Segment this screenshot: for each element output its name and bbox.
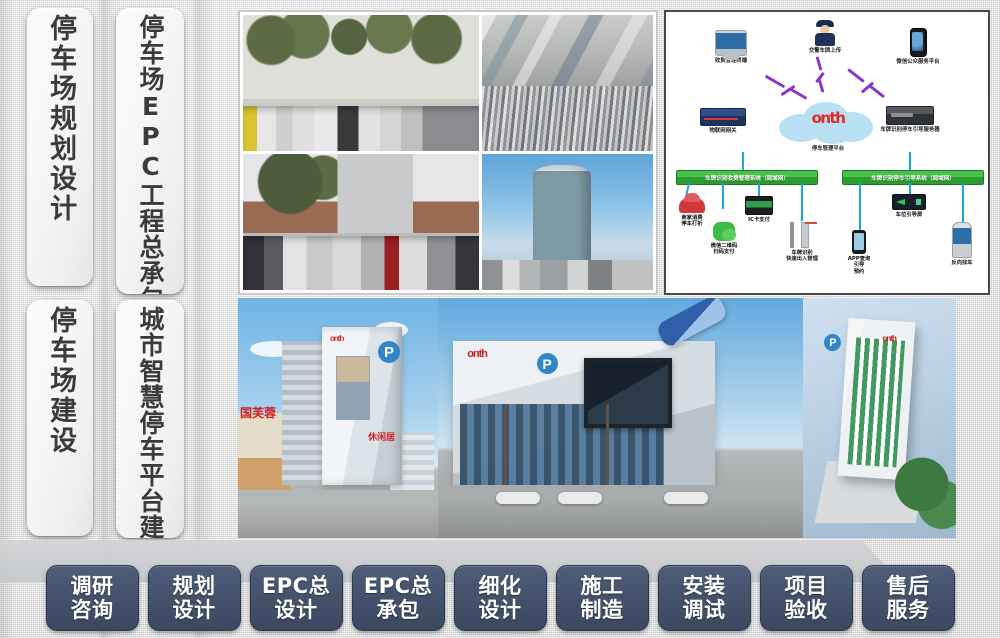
photo-brick-building-lot — [243, 154, 479, 290]
parking-badge-icon: P — [824, 334, 841, 351]
photo-glass-tower — [482, 154, 653, 290]
diagram-leaf-stall-guide-screen: 车位引导屏 — [878, 194, 940, 218]
kiosk-icon — [952, 222, 972, 258]
process-step-installation[interactable]: 安装 调试 — [658, 565, 751, 631]
diagram-leaf-label: 车牌识别 快速出入管理 — [771, 250, 833, 263]
photo-aerial-parking-lot — [482, 15, 653, 151]
process-step-survey[interactable]: 调研 咨询 — [46, 565, 139, 631]
diagram-leaf-label: 微信二维码 扫码支付 — [693, 243, 755, 256]
diagram-node-label: 微信公众服务平台 — [881, 59, 955, 65]
diagram-leaf-anpr-gate: 车牌识别 快速出入管理 — [771, 218, 833, 263]
page-background: 停车场规划设计 停车场EPC工程总承包 停车场建设 城市智慧停车平台建设 P o… — [0, 0, 1000, 638]
diagram-leaf-label: 反向找车 — [931, 260, 990, 266]
diagram-node-label: 车牌识别停车引导服务器 — [873, 127, 947, 133]
wechat-icon — [713, 222, 735, 241]
network-gateway-icon — [700, 108, 746, 126]
render-wide-garage: P onth — [438, 298, 803, 538]
connector-line — [801, 183, 803, 221]
architecture-render-strip: P onth 国芙蓉 休闲居 P onth P onth — [238, 298, 956, 538]
brand-logo: onth — [467, 348, 487, 360]
sidebar-card-label: 停车场EPC工程总承包 — [136, 8, 164, 294]
parking-badge-icon: P — [537, 353, 558, 374]
diagram-node-label: 交警车牌上传 — [788, 48, 862, 54]
photo-collage — [238, 10, 658, 295]
diagram-bar-anpr-toll-system: 车牌识别收费管理系统（局域网） — [676, 170, 818, 185]
diagram-node-label: 停车管理平台 — [791, 146, 865, 152]
ic-card-icon — [745, 196, 773, 215]
process-step-bar: 调研 咨询 规划 设计 EPC总 设计 EPC总 承包 细化 设计 施工 制造 … — [0, 563, 1000, 633]
barrier-gate-icon — [787, 218, 817, 248]
sidebar-card-parking-planning[interactable]: 停车场规划设计 — [27, 8, 93, 286]
diagram-leaf-label: 车位引导屏 — [878, 212, 940, 218]
diagram-node-cloud-platform: 停车管理平台 — [791, 144, 865, 152]
sidebar-card-label: 停车场规划设计 — [45, 8, 75, 224]
sidebar-card-label: 城市智慧停车平台建设 — [136, 300, 164, 538]
car-icon — [679, 198, 705, 213]
police-officer-icon — [815, 20, 835, 46]
brand-logo: onth — [883, 334, 896, 343]
process-step-acceptance[interactable]: 项目 验收 — [760, 565, 853, 631]
diagram-node-label: 物联网网关 — [686, 128, 760, 134]
connector-line — [742, 152, 744, 170]
photo-street-parking-lot — [243, 15, 479, 151]
diagram-leaf-label: APP查询 引导 预约 — [828, 256, 890, 275]
diagram-leaf-reverse-find-car: 反向找车 — [931, 222, 990, 266]
diagram-node-traffic-police: 交警车牌上传 — [788, 20, 862, 54]
sidebar-card-label: 停车场建设 — [45, 300, 75, 456]
diagram-leaf-wechat-qr: 微信二维码 扫码支付 — [693, 222, 755, 256]
process-step-planning[interactable]: 规划 设计 — [148, 565, 241, 631]
render-sign-left: 国芙蓉 — [240, 404, 276, 421]
process-step-epc-contract[interactable]: EPC总 承包 — [352, 565, 445, 631]
render-sign-right: 休闲居 — [368, 430, 395, 443]
system-architecture-diagram: 收费管理终端 交警车牌上传 微信公众服务平台 物联网网关 车牌识别停车引导服务器… — [664, 10, 990, 295]
smartphone-icon — [910, 28, 927, 57]
render-aerial-green-tower: P onth — [803, 298, 956, 538]
sidebar-card-smart-city-platform[interactable]: 城市智慧停车平台建设 — [116, 300, 184, 538]
brand-logo: onth — [330, 334, 343, 343]
connector-line — [962, 183, 964, 225]
diagram-leaf-app-query: APP查询 引导 预约 — [828, 230, 890, 275]
guidance-screen-icon — [892, 194, 926, 210]
process-step-construction[interactable]: 施工 制造 — [556, 565, 649, 631]
mobile-app-icon — [852, 230, 866, 254]
render-vertical-garage-tower: P onth 国芙蓉 休闲居 — [238, 298, 438, 538]
diagram-node-toll-terminal: 收费管理终端 — [694, 30, 768, 64]
diagram-node-iot-gateway: 物联网网关 — [686, 108, 760, 134]
diagram-node-guide-server: 车牌识别停车引导服务器 — [873, 106, 947, 133]
sidebar-card-epc-contract[interactable]: 停车场EPC工程总承包 — [116, 8, 184, 294]
process-step-aftersales[interactable]: 售后 服务 — [862, 565, 955, 631]
brand-logo: onth — [812, 109, 845, 127]
sidebar-card-parking-construction[interactable]: 停车场建设 — [27, 300, 93, 536]
process-step-detail-design[interactable]: 细化 设计 — [454, 565, 547, 631]
server-rack-icon — [886, 106, 934, 125]
diagram-node-wechat-platform: 微信公众服务平台 — [881, 28, 955, 65]
cloud-icon: onth — [779, 100, 877, 144]
connector-line — [859, 183, 861, 233]
connector-line — [909, 152, 911, 170]
led-screen — [584, 358, 672, 428]
process-step-epc-design[interactable]: EPC总 设计 — [250, 565, 343, 631]
monitor-icon — [715, 30, 747, 56]
